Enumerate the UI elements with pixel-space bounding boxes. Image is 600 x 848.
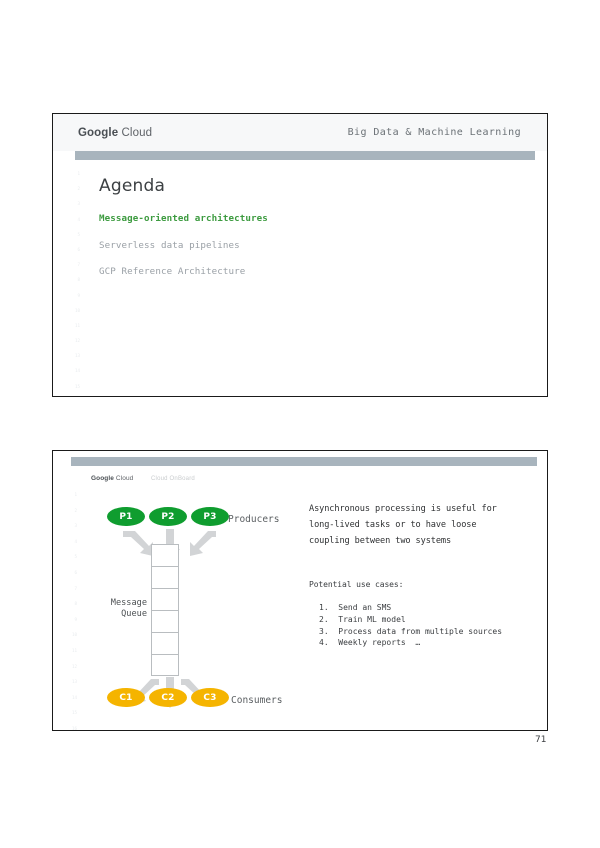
line-number: 10 xyxy=(63,627,77,643)
line-number: 14 xyxy=(63,690,77,706)
cloud-onboard-tag: Cloud OnBoard xyxy=(151,476,195,482)
line-number: 11 xyxy=(66,318,80,333)
line-number: 15 xyxy=(66,379,80,394)
message-queue xyxy=(151,544,179,676)
line-number: 8 xyxy=(66,272,80,287)
producer-node-p2[interactable]: P2 xyxy=(149,507,187,526)
line-number: 6 xyxy=(66,242,80,257)
line-number: 2 xyxy=(66,181,80,196)
line-number: 5 xyxy=(63,549,77,565)
line-number: 13 xyxy=(66,348,80,363)
line-number: 3 xyxy=(63,518,77,534)
producer-arrows xyxy=(113,529,263,561)
queue-cell xyxy=(151,632,179,654)
usecase-item: 3. Process data from multiple sources xyxy=(319,626,502,638)
usecases-title: Potential use cases: xyxy=(309,578,403,592)
page-title: Agenda xyxy=(99,176,165,196)
google-cloud-logo: Google Cloud xyxy=(91,475,133,482)
agenda-item-2[interactable]: Serverless data pipelines xyxy=(99,240,499,251)
slide-message-queue[interactable]: Google Cloud Cloud OnBoard 1234567891011… xyxy=(52,450,548,731)
queue-cell xyxy=(151,544,179,566)
agenda-item-3[interactable]: GCP Reference Architecture xyxy=(99,266,499,277)
queue-label-line1: Message xyxy=(95,598,147,609)
brand-google: Google xyxy=(78,127,118,139)
line-number: 12 xyxy=(66,333,80,348)
line-number: 16 xyxy=(66,394,80,396)
line-number: 13 xyxy=(63,674,77,690)
slide-agenda[interactable]: Google Cloud Big Data & Machine Learning… xyxy=(52,113,548,397)
line-number: 3 xyxy=(66,196,80,211)
page-number: 71 xyxy=(535,735,546,745)
line-number: 4 xyxy=(63,534,77,550)
producer-node-p1[interactable]: P1 xyxy=(107,507,145,526)
queue-cell xyxy=(151,566,179,588)
queue-cell xyxy=(151,588,179,610)
description-paragraph: Asynchronous processing is useful for lo… xyxy=(309,501,497,549)
slide-agenda-canvas: Google Cloud Big Data & Machine Learning… xyxy=(53,114,547,396)
brand-cloud: Cloud xyxy=(122,127,153,139)
line-number: 12 xyxy=(63,659,77,675)
line-number: 7 xyxy=(66,257,80,272)
line-number: 6 xyxy=(63,565,77,581)
consumer-node-c2[interactable]: C2 xyxy=(149,688,187,707)
line-number: 2 xyxy=(63,503,77,519)
consumer-node-c1[interactable]: C1 xyxy=(107,688,145,707)
producer-node-p3[interactable]: P3 xyxy=(191,507,229,526)
line-number: 4 xyxy=(66,212,80,227)
consumer-node-c3[interactable]: C3 xyxy=(191,688,229,707)
consumers-caption: Consumers xyxy=(231,695,282,706)
deck-title: Big Data & Machine Learning xyxy=(348,127,521,138)
slide-message-queue-canvas: Google Cloud Cloud OnBoard 1234567891011… xyxy=(53,451,547,730)
line-number-gutter: 1234567891011121314151617181920 xyxy=(66,166,80,396)
line-number: 7 xyxy=(63,581,77,597)
usecase-item: 4. Weekly reports … xyxy=(319,637,502,649)
line-number: 9 xyxy=(63,612,77,628)
line-number: 1 xyxy=(66,166,80,181)
line-number: 8 xyxy=(63,596,77,612)
line-number: 10 xyxy=(66,303,80,318)
header-rule-bar xyxy=(71,457,537,466)
google-cloud-logo: Google Cloud xyxy=(78,127,152,139)
message-queue-label: Message Queue xyxy=(95,598,147,620)
usecase-item: 1. Send an SMS xyxy=(319,602,502,614)
line-number: 16 xyxy=(63,721,77,730)
brand-google: Google xyxy=(91,475,114,482)
line-number: 15 xyxy=(63,705,77,721)
queue-label-line2: Queue xyxy=(95,609,147,620)
queue-cell xyxy=(151,654,179,676)
line-number: 11 xyxy=(63,643,77,659)
queue-cell xyxy=(151,610,179,632)
brand-cloud: Cloud xyxy=(116,475,133,482)
line-number: 5 xyxy=(66,227,80,242)
line-number-gutter: 123456789101112131415161718 xyxy=(63,487,77,730)
usecases-list: 1. Send an SMS2. Train ML model3. Proces… xyxy=(319,602,502,649)
producers-caption: Producers xyxy=(228,514,279,525)
header-rule-bar xyxy=(75,151,535,160)
agenda-item-1[interactable]: Message-oriented architectures xyxy=(99,213,499,224)
line-number: 14 xyxy=(66,363,80,378)
line-number: 9 xyxy=(66,288,80,303)
agenda-list: Message-oriented architecturesServerless… xyxy=(99,213,499,293)
usecase-item: 2. Train ML model xyxy=(319,614,502,626)
line-number: 1 xyxy=(63,487,77,503)
